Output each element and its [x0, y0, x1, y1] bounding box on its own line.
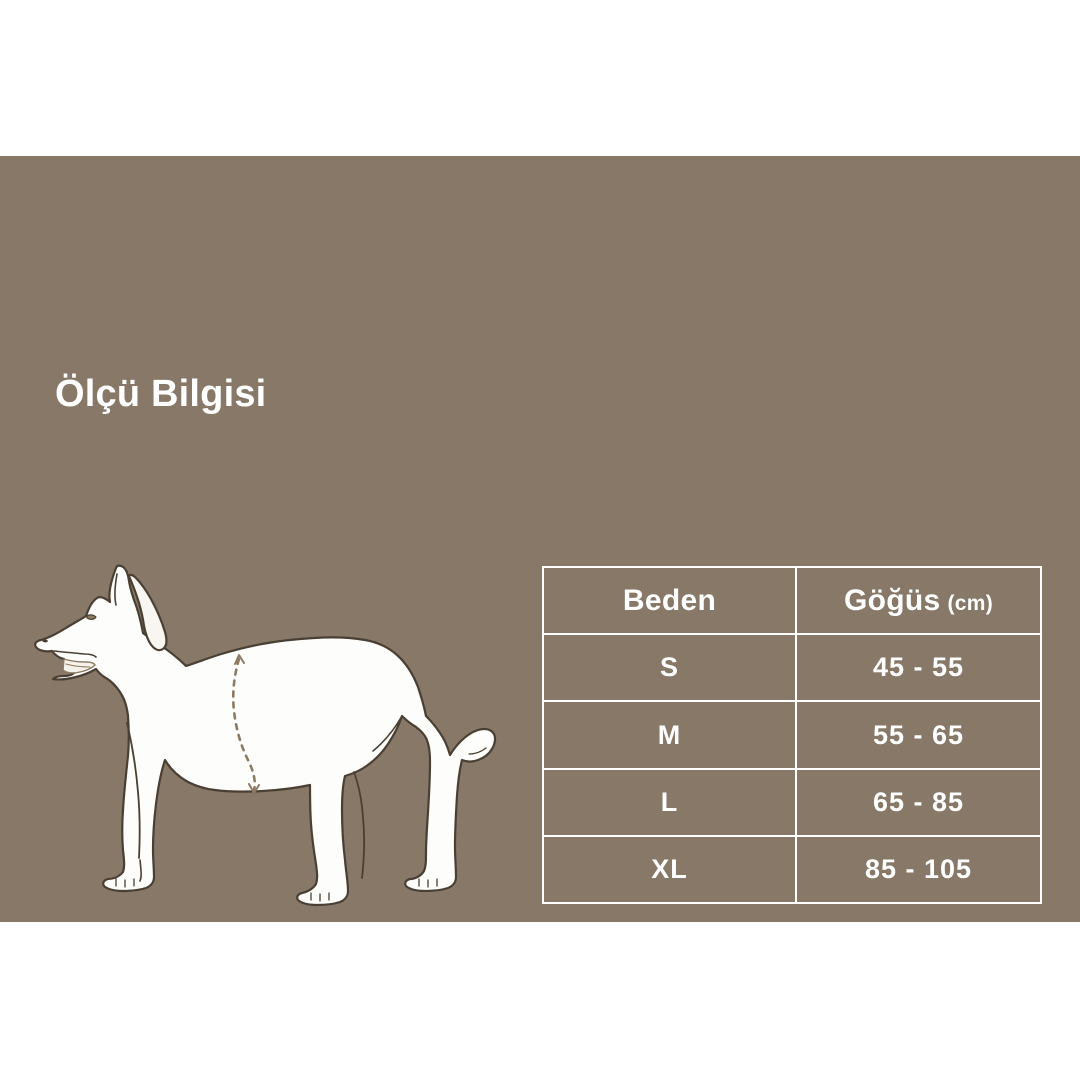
table-header-row: Beden Göğüs (cm)	[544, 568, 1040, 635]
dog-side-profile-icon	[28, 548, 506, 926]
cell-size-l: L	[544, 770, 797, 835]
cell-chest-xl: 85 - 105	[797, 837, 1040, 902]
page-title: Ölçü Bilgisi	[55, 375, 266, 413]
cell-size-m: M	[544, 702, 797, 767]
table-row: XL 85 - 105	[544, 837, 1040, 902]
dog-illustration	[28, 548, 506, 926]
cell-size-xl: XL	[544, 837, 797, 902]
size-table: Beden Göğüs (cm) S 45 - 55 M 55 - 65 L 6…	[542, 566, 1042, 904]
table-row: M 55 - 65	[544, 702, 1040, 769]
table-row: L 65 - 85	[544, 770, 1040, 837]
table-row: S 45 - 55	[544, 635, 1040, 702]
column-header-gogus-label: Göğüs	[844, 584, 941, 618]
column-header-gogus-unit: (cm)	[947, 592, 993, 616]
column-header-beden: Beden	[544, 568, 797, 633]
size-chart-canvas: Ölçü Bilgisi	[0, 0, 1080, 1080]
brown-panel: Ölçü Bilgisi	[0, 156, 1080, 922]
cell-chest-m: 55 - 65	[797, 702, 1040, 767]
cell-size-s: S	[544, 635, 797, 700]
cell-chest-l: 65 - 85	[797, 770, 1040, 835]
column-header-gogus: Göğüs (cm)	[797, 568, 1040, 633]
cell-chest-s: 45 - 55	[797, 635, 1040, 700]
